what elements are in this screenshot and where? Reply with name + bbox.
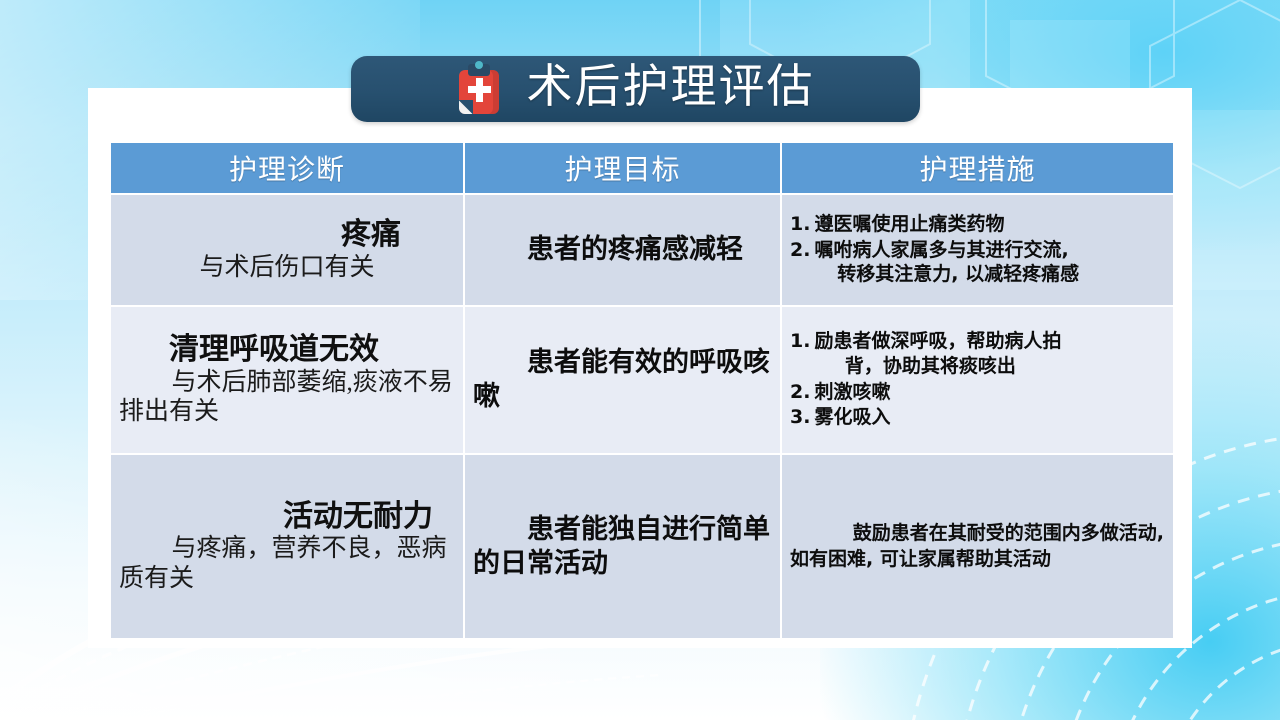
list-number: 1.: [790, 329, 810, 378]
table-row: 活动无耐力 与疼痛，营养不良，恶病质有关 患者能独自进行简单的日常活动 鼓励患者…: [111, 455, 1173, 638]
goal-text: 患者的疼痛感减轻: [473, 233, 772, 267]
cell-diagnosis: 清理呼吸道无效 与术后肺部萎缩,痰液不易排出有关: [111, 307, 463, 453]
diagnosis-title: 活动无耐力: [119, 500, 455, 534]
measures-list: 1. 遵医嘱使用止痛类药物 2. 嘱咐病人家属多与其进行交流,转移其注意力, 以…: [790, 212, 1165, 287]
header-goal: 护理目标: [465, 143, 780, 193]
list-text: 刺激咳嗽: [814, 381, 890, 403]
cell-measures: 鼓励患者在其耐受的范围内多做活动, 如有困难, 可让家属帮助其活动: [782, 455, 1173, 638]
nursing-assessment-table: 护理诊断 护理目标 护理措施 疼痛 与术后伤口有关 患者的疼痛感减轻: [109, 141, 1175, 640]
list-text-cont: 转移其注意力, 以减轻疼痛感: [814, 262, 1165, 287]
measures-list: 1. 励患者做深呼吸，帮助病人拍背，协助其将痰咳出 2. 刺激咳嗽 3. 雾化吸…: [790, 329, 1165, 430]
goal-text: 患者能独自进行简单的日常活动: [473, 513, 772, 581]
cell-diagnosis: 活动无耐力 与疼痛，营养不良，恶病质有关: [111, 455, 463, 638]
slide-title-banner: 术后护理评估: [351, 56, 920, 122]
cell-measures: 1. 励患者做深呼吸，帮助病人拍背，协助其将痰咳出 2. 刺激咳嗽 3. 雾化吸…: [782, 307, 1173, 453]
slide-canvas: 术后护理评估 护理诊断 护理目标 护理措施 疼痛 与术后伤口有关: [0, 0, 1280, 720]
list-item: 3. 雾化吸入: [790, 405, 1165, 430]
cell-goal: 患者能有效的呼吸咳嗽: [465, 307, 780, 453]
list-number: 2.: [790, 238, 810, 287]
list-text: 雾化吸入: [814, 406, 890, 428]
list-text: 嘱咐病人家属多与其进行交流,: [814, 239, 1068, 261]
diagnosis-title: 清理呼吸道无效: [119, 333, 455, 367]
cell-diagnosis: 疼痛 与术后伤口有关: [111, 195, 463, 305]
table-row: 疼痛 与术后伤口有关 患者的疼痛感减轻 1. 遵医嘱使用止痛类药物: [111, 195, 1173, 305]
goal-text: 患者能有效的呼吸咳嗽: [473, 346, 772, 414]
list-item: 1. 励患者做深呼吸，帮助病人拍背，协助其将痰咳出: [790, 329, 1165, 378]
diagnosis-detail: 与疼痛，营养不良，恶病质有关: [119, 534, 455, 593]
list-text: 遵医嘱使用止痛类药物: [814, 213, 1004, 235]
header-diagnosis: 护理诊断: [111, 143, 463, 193]
cell-goal: 患者能独自进行简单的日常活动: [465, 455, 780, 638]
medical-clipboard-icon: [457, 64, 501, 114]
list-item: 2. 嘱咐病人家属多与其进行交流,转移其注意力, 以减轻疼痛感: [790, 238, 1165, 287]
page-title: 术后护理评估: [527, 64, 815, 114]
diagnosis-detail: 与术后伤口有关: [119, 253, 455, 283]
cell-measures: 1. 遵医嘱使用止痛类药物 2. 嘱咐病人家属多与其进行交流,转移其注意力, 以…: [782, 195, 1173, 305]
list-item: 1. 遵医嘱使用止痛类药物: [790, 212, 1165, 237]
diagnosis-detail: 与术后肺部萎缩,痰液不易排出有关: [119, 368, 455, 427]
list-number: 1.: [790, 212, 810, 237]
list-text: 励患者做深呼吸，帮助病人拍: [814, 330, 1061, 352]
list-text-cont: 背，协助其将痰咳出: [814, 354, 1165, 379]
list-number: 2.: [790, 380, 810, 405]
diagnosis-title: 疼痛: [119, 218, 455, 252]
measures-text: 鼓励患者在其耐受的范围内多做活动, 如有困难, 可让家属帮助其活动: [790, 521, 1165, 572]
table-header-row: 护理诊断 护理目标 护理措施: [111, 143, 1173, 193]
header-measures: 护理措施: [782, 143, 1173, 193]
list-item: 2. 刺激咳嗽: [790, 380, 1165, 405]
cell-goal: 患者的疼痛感减轻: [465, 195, 780, 305]
list-number: 3.: [790, 405, 810, 430]
table-row: 清理呼吸道无效 与术后肺部萎缩,痰液不易排出有关 患者能有效的呼吸咳嗽 1. 励…: [111, 307, 1173, 453]
